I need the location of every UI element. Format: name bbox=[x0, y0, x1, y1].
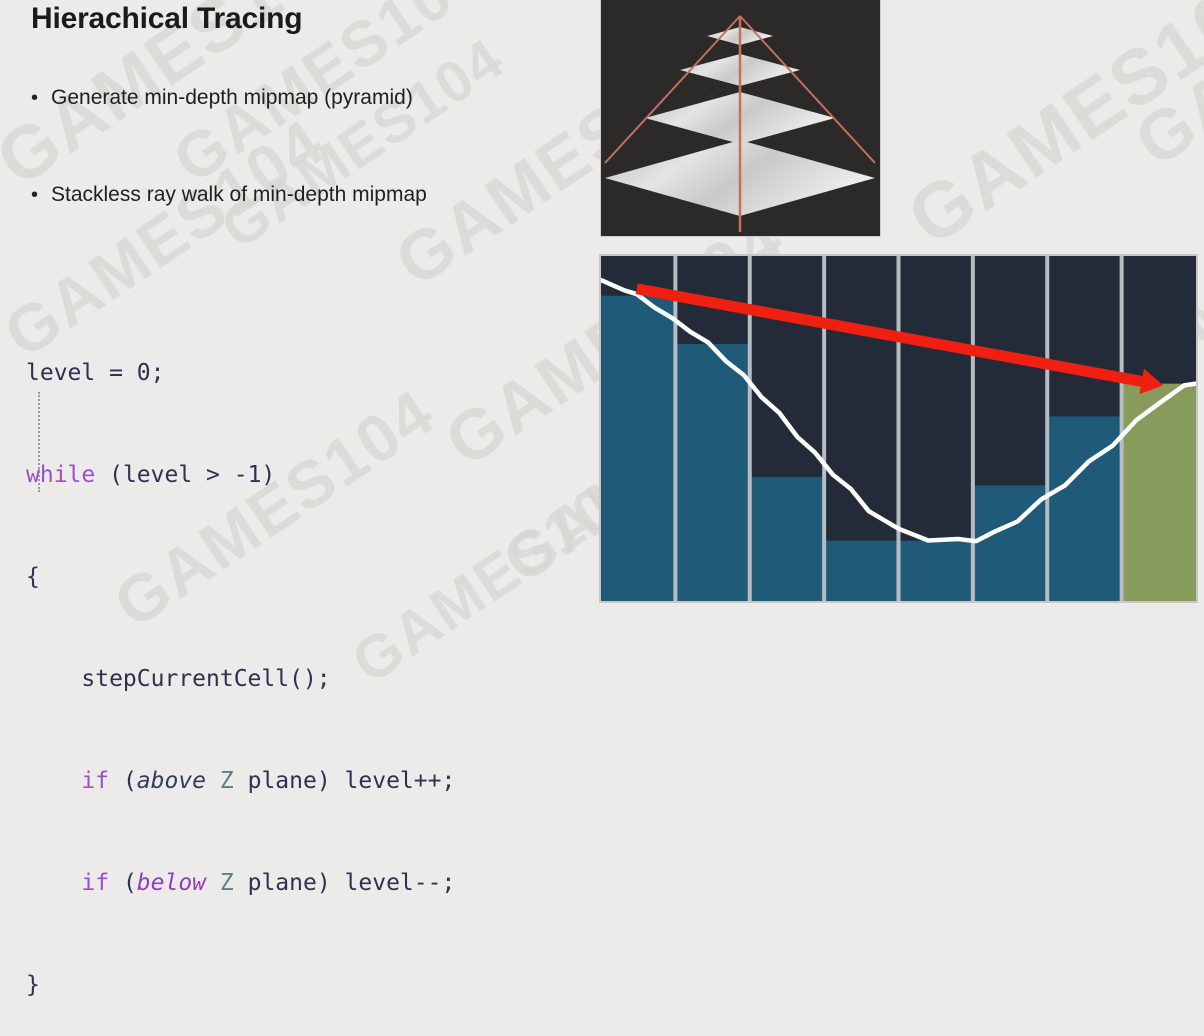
page-title: Hierachical Tracing bbox=[31, 2, 302, 36]
bullet-item-1: • Generate min-depth mipmap (pyramid) bbox=[31, 87, 413, 109]
code-token: { bbox=[26, 564, 40, 590]
cell-empty-region bbox=[824, 256, 898, 541]
code-token bbox=[206, 768, 220, 794]
code-token: ( bbox=[109, 870, 137, 896]
code-line-1: level = 0; bbox=[26, 356, 455, 390]
cell-filled-region bbox=[899, 541, 973, 601]
mipmap-chart bbox=[601, 256, 1196, 601]
code-token: (level > -1) bbox=[95, 462, 275, 488]
code-token: ( bbox=[109, 768, 137, 794]
bullet-label: Stackless ray walk of min-depth mipmap bbox=[51, 184, 427, 206]
pyramid-image bbox=[601, 0, 880, 236]
code-line-7: } bbox=[26, 968, 455, 1002]
code-token-type: Z bbox=[220, 768, 234, 794]
cell-empty-region bbox=[899, 256, 973, 541]
cell-empty-region bbox=[750, 256, 824, 477]
code-line-6: if (below Z plane) level--; bbox=[26, 866, 455, 900]
cell-divider bbox=[897, 256, 901, 601]
cell-hit-region bbox=[1122, 384, 1196, 601]
bullet-item-2: • Stackless ray walk of min-depth mipmap bbox=[31, 184, 427, 206]
code-token-keyword: if bbox=[81, 870, 109, 896]
watermark-text: GAMES104 bbox=[1121, 0, 1204, 182]
cell-divider bbox=[673, 256, 677, 601]
bullet-dot-icon: • bbox=[31, 87, 51, 109]
code-token: plane) level--; bbox=[234, 870, 456, 896]
cell-empty-region bbox=[1122, 256, 1196, 384]
cell-divider bbox=[1045, 256, 1049, 601]
mipmap-cells-diagram bbox=[601, 256, 1196, 601]
code-token bbox=[26, 768, 81, 794]
bullet-label: Generate min-depth mipmap (pyramid) bbox=[51, 87, 413, 109]
cell-empty-region bbox=[973, 256, 1047, 485]
watermark-text: GAMES104 bbox=[891, 0, 1204, 264]
cell-filled-region bbox=[601, 296, 675, 601]
code-line-3: { bbox=[26, 560, 455, 594]
code-token-type: Z bbox=[220, 870, 234, 896]
code-line-5: if (above Z plane) level++; bbox=[26, 764, 455, 798]
bullet-dot-icon: • bbox=[31, 184, 51, 206]
code-block: level = 0; while (level > -1) { stepCurr… bbox=[26, 288, 455, 1036]
cell-divider bbox=[1120, 256, 1124, 601]
code-token: stepCurrentCell(); bbox=[26, 666, 331, 692]
code-token: plane) level++; bbox=[234, 768, 456, 794]
code-token bbox=[26, 870, 81, 896]
pyramid-icon bbox=[601, 0, 880, 236]
code-token-keyword: if bbox=[81, 768, 109, 794]
code-token-italic: above bbox=[137, 768, 206, 794]
code-token-italic: below bbox=[137, 870, 206, 896]
code-token-keyword: while bbox=[26, 462, 95, 488]
cell-filled-region bbox=[675, 344, 749, 601]
code-token: level = 0; bbox=[26, 360, 164, 386]
code-token: } bbox=[26, 972, 40, 998]
code-token bbox=[206, 870, 220, 896]
code-line-2: while (level > -1) bbox=[26, 458, 455, 492]
cell-filled-region bbox=[824, 541, 898, 601]
code-line-4: stepCurrentCell(); bbox=[26, 662, 455, 696]
cell-filled-region bbox=[1047, 416, 1121, 601]
cell-filled-region bbox=[750, 477, 824, 601]
watermark-text: GAMES104 bbox=[209, 25, 516, 263]
cell-empty-region bbox=[1047, 256, 1121, 416]
cell-divider bbox=[822, 256, 826, 601]
cell-divider bbox=[971, 256, 975, 601]
